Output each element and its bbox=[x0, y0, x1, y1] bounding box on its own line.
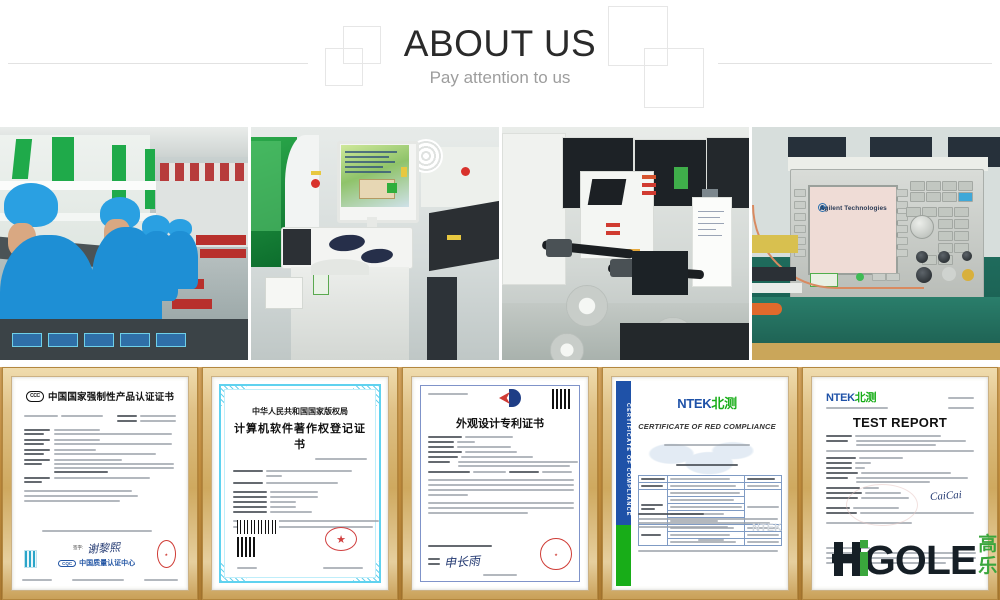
ccc-mark: CCC bbox=[26, 391, 44, 402]
certificate-frame-software-copyright[interactable]: 中华人民共和国国家版权局 计算机软件著作权登记证书 bbox=[202, 367, 398, 600]
ntek-logo-report: NTEK北测 bbox=[826, 389, 876, 405]
ccc-qr-code bbox=[24, 550, 37, 568]
certificate-frame-design-patent[interactable]: 外观设计专利证书 bbox=[402, 367, 598, 600]
photo-pick-and-place-machine bbox=[502, 127, 750, 360]
photo-agilent-test-instrument: Agilent Technologies bbox=[752, 127, 1000, 360]
report-seal bbox=[846, 484, 918, 526]
higole-logo: GOLE 高乐 bbox=[832, 534, 1000, 580]
certificate-title-test-report: TEST REPORT bbox=[826, 415, 974, 430]
copyright-issuer: 中华人民共和国国家版权局 bbox=[233, 406, 367, 417]
certificate-frame-ccc[interactable]: CCC 中国国家强制性产品认证证书 bbox=[2, 367, 198, 600]
about-us-page: ABOUT US Pay attention to us bbox=[0, 0, 1000, 600]
cqc-mark: CQC bbox=[58, 560, 76, 567]
certificate-title-software-copyright: 计算机软件著作权登记证书 bbox=[233, 420, 367, 452]
facility-photo-strip: Agilent Technologies bbox=[0, 127, 1000, 360]
copyright-red-seal: ★ bbox=[325, 527, 357, 551]
certificate-title-ccc: 中国国家强制性产品认证证书 bbox=[48, 389, 174, 403]
cqc-name: 中国质量认证中心 bbox=[79, 558, 135, 568]
photo-smt-inspection-machine bbox=[251, 127, 499, 360]
page-subtitle: Pay attention to us bbox=[0, 68, 1000, 88]
certificate-title-red-compliance: CERTIFICATE OF RED COMPLIANCE bbox=[638, 422, 776, 431]
patent-office-logo bbox=[499, 389, 521, 407]
compliance-sidebar: CERTIFICATE OF COMPLIANCE bbox=[616, 381, 631, 586]
page-header: ABOUT US Pay attention to us bbox=[0, 0, 1000, 122]
ccc-signature-label: 签字: bbox=[73, 545, 83, 551]
page-title: ABOUT US bbox=[0, 23, 1000, 65]
photo-assembly-line bbox=[0, 127, 248, 360]
ccc-signature: 谢黎熙 bbox=[87, 539, 121, 557]
ntek-logo: NTEK北测 bbox=[638, 393, 776, 412]
patent-qr-code bbox=[552, 389, 572, 409]
compliance-sidebar-label: CERTIFICATE OF COMPLIANCE bbox=[616, 387, 631, 532]
report-signature: CaiCai bbox=[930, 489, 963, 503]
higole-chinese-name: 高乐 bbox=[978, 534, 1000, 578]
ccc-red-seal: ★ bbox=[157, 540, 176, 568]
certificate-title-design-patent: 外观设计专利证书 bbox=[428, 415, 572, 431]
copyright-barcode bbox=[237, 520, 279, 534]
higole-hi-mark bbox=[832, 534, 864, 580]
certificate-frame-red-compliance[interactable]: CERTIFICATE OF COMPLIANCE NTEK北测 CERTIFI… bbox=[602, 367, 798, 600]
copyright-qr-code bbox=[237, 537, 257, 557]
higole-wordmark: GOLE bbox=[864, 540, 976, 580]
